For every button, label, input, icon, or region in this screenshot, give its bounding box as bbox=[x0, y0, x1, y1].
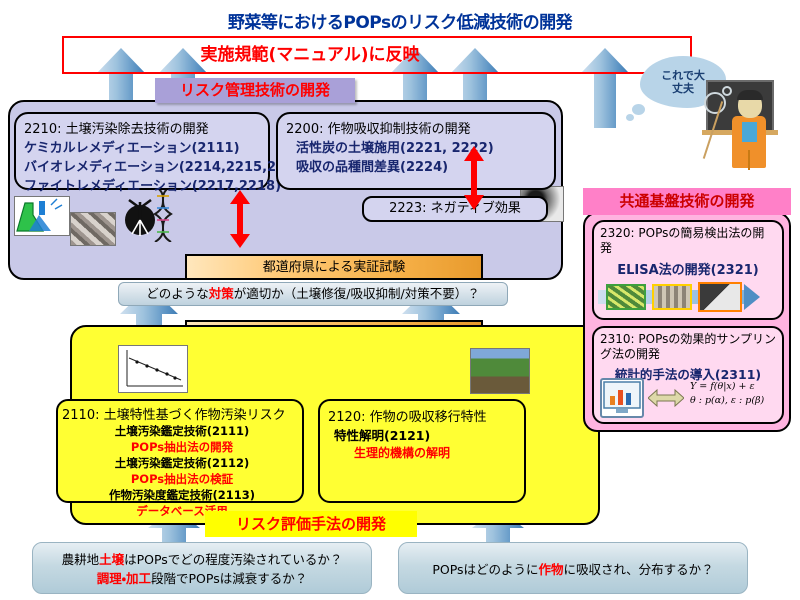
box-2223-label: 2223: ネガティブ効果 bbox=[364, 198, 546, 220]
formula-line-2: θ : p(α), ε : p(β) bbox=[690, 394, 786, 408]
bq-right-a: POPsはどのように bbox=[432, 562, 538, 577]
teacher-hair-icon bbox=[737, 90, 763, 100]
thought-bubble-line1: これで大 bbox=[661, 69, 705, 82]
box-2210-item-1: バイオレメディエーション(2214,2215,2216) bbox=[24, 156, 268, 175]
box-2210-item-0: ケミカルレメディエーション(2111) bbox=[24, 137, 268, 156]
statistics-formula: Y = f(θ|x) + ε θ : p(α), ε : p(β) bbox=[690, 380, 786, 409]
page-title: 野菜等におけるPOPsのリスク低減技術の開発 bbox=[0, 8, 800, 33]
box-2110-row-3: POPs抽出法の検証 bbox=[62, 471, 302, 487]
field-photo-image bbox=[470, 348, 530, 394]
banner-common-base: 共通基盤技術の開発 bbox=[583, 188, 791, 215]
box-2110-header: 2110: 土壌特性基づく作物汚染リスク bbox=[62, 404, 302, 423]
thought-bubble-line2: 丈夫 bbox=[672, 82, 694, 95]
box-2210[interactable]: 2210: 土壌汚染除去技術の開発 ケミカルレメディエーション(2111) バイ… bbox=[14, 112, 270, 190]
bottom-question-left[interactable]: 農耕地土壌はPOPsでどの程度汚染されているか？ 調理・加工段階でPOPsは減衰… bbox=[32, 542, 372, 594]
bottom-question-left-line1: 農耕地土壌はPOPsでどの程度汚染されているか？ bbox=[62, 549, 343, 568]
elisa-plate-photo bbox=[698, 282, 742, 312]
thought-bubble-dot-large bbox=[632, 104, 645, 115]
box-2200-item-0: 活性炭の土壌施用(2221, 2222) bbox=[286, 137, 554, 156]
box-2110[interactable]: 2110: 土壌特性基づく作物汚染リスク 土壌汚染鑑定技術(2111) POPs… bbox=[56, 399, 304, 503]
box-2200-item-1: 吸収の品種間差異(2224) bbox=[286, 156, 554, 175]
bidirectional-arrow-icon bbox=[648, 388, 684, 408]
dna-helix-icon bbox=[150, 186, 176, 242]
elisa-sample-photo bbox=[652, 284, 692, 310]
statistics-monitor-icon bbox=[600, 378, 644, 418]
laboratory-flask-icon bbox=[14, 196, 70, 236]
bq-left-l1-highlight: 土壌 bbox=[99, 552, 124, 567]
verification-question-highlight: 対策 bbox=[209, 286, 234, 301]
banner-risk-assessment: リスク評価手法の開発 bbox=[205, 511, 417, 537]
box-2110-row-2: 土壌汚染鑑定技術(2112) bbox=[62, 455, 302, 471]
bq-left-l1b: はPOPsでどの程度汚染されているか？ bbox=[124, 552, 342, 567]
box-2200[interactable]: 2200: 作物吸収抑制技術の開発 活性炭の土壌施用(2221, 2222) 吸… bbox=[276, 112, 556, 190]
box-2120-row-0: 特性解明(2121) bbox=[328, 425, 524, 444]
teacher-shirt-icon bbox=[742, 122, 757, 142]
box-2110-row-1: POPs抽出法の開発 bbox=[62, 439, 302, 455]
manual-underline bbox=[62, 72, 692, 74]
box-2320-subtitle: ELISA法の開発(2321) bbox=[600, 259, 776, 278]
red-double-arrow-right bbox=[464, 146, 484, 210]
bq-right-highlight: 作物 bbox=[539, 562, 564, 577]
red-double-arrow-left bbox=[230, 190, 250, 248]
bottom-question-left-line2: 調理・加工段階でPOPsは減衰するか？ bbox=[97, 568, 307, 587]
elisa-field-photo bbox=[606, 284, 646, 310]
teacher-legs-icon bbox=[748, 150, 750, 170]
chalk-ring-small-icon bbox=[722, 86, 732, 96]
box-2110-row-4: 作物汚染度鑑定技術(2113) bbox=[62, 487, 302, 503]
box-2120-header: 2120: 作物の吸収移行特性 bbox=[328, 406, 524, 425]
box-2320-header: 2320: POPsの簡易検出法の開発 bbox=[600, 226, 776, 256]
box-2210-header: 2210: 土壌汚染除去技術の開発 bbox=[24, 118, 268, 137]
diagram-canvas: 野菜等におけるPOPsのリスク低減技術の開発 bbox=[0, 0, 800, 600]
bq-right-b: に吸収され、分布するか？ bbox=[564, 562, 714, 577]
bq-left-l2-highlight: 調理・加工 bbox=[97, 571, 151, 586]
box-2110-row-0: 土壌汚染鑑定技術(2111) bbox=[62, 423, 302, 439]
box-2310-header: 2310: POPsの効果的サンプリング法の開発 bbox=[600, 332, 776, 362]
verification-question-bar: どのような対策が適切か（土壌修復/吸収抑制/対策不要）？ bbox=[118, 282, 508, 306]
soil-graph-chart-image bbox=[118, 345, 188, 393]
verification-bar-top: 都道府県による実証試験 bbox=[185, 254, 483, 280]
box-2120-row-1: 生理的機構の解明 bbox=[328, 444, 524, 461]
box-2200-header: 2200: 作物吸収抑制技術の開発 bbox=[286, 118, 554, 137]
box-2120[interactable]: 2120: 作物の吸収移行特性 特性解明(2121) 生理的機構の解明 bbox=[318, 399, 526, 503]
elisa-flow-arrow-icon bbox=[744, 284, 760, 310]
box-2223[interactable]: 2223: ネガティブ効果 bbox=[362, 196, 548, 222]
thought-bubble-dot-small bbox=[626, 114, 634, 121]
manual-label: 実施規範(マニュアル)に反映 bbox=[120, 40, 500, 65]
verification-question-suffix: が適切か（土壌修復/吸収抑制/対策不要）？ bbox=[234, 286, 480, 301]
bq-left-l2b: 段階でPOPsは減衰するか？ bbox=[151, 571, 307, 586]
verification-question-prefix: どのような bbox=[146, 286, 209, 301]
banner-risk-management: リスク管理技術の開発 bbox=[155, 78, 355, 103]
microbe-micrograph-image bbox=[70, 212, 116, 246]
formula-line-1: Y = f(θ|x) + ε bbox=[690, 380, 786, 394]
bottom-question-right-line: POPsはどのように作物に吸収され、分布するか？ bbox=[432, 559, 713, 578]
bottom-question-right[interactable]: POPsはどのように作物に吸収され、分布するか？ bbox=[398, 542, 748, 594]
bq-left-l1a: 農耕地 bbox=[62, 552, 100, 567]
